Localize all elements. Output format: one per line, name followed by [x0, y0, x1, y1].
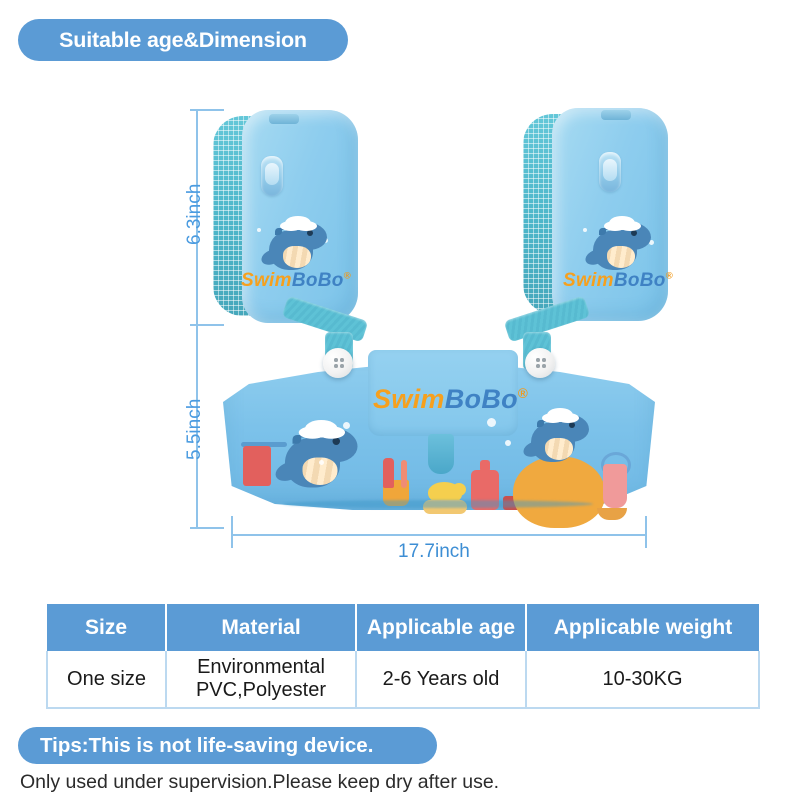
egg-shell-icon [513, 456, 605, 528]
bubble-dot [487, 418, 496, 427]
snap-button-right [525, 348, 555, 378]
toothpaste-tube-icon [383, 458, 394, 488]
brand-logo-left: SwimBoBo® [241, 270, 351, 292]
red-towel-icon [243, 446, 271, 486]
logo-text-swim: Swim [241, 270, 292, 291]
basin-icon [597, 508, 627, 520]
bubble-dot [319, 460, 324, 465]
zipper-pull-right-icon [601, 110, 631, 120]
cell-applicable-weight: 10-30KG [526, 651, 759, 708]
vest-bottom-rim [283, 500, 593, 508]
brand-logo-vest: SwimBoBo® [373, 384, 528, 415]
dim-label-height-lower: 5.5inch [184, 399, 206, 460]
bubble-dot [343, 422, 350, 429]
product-dimension-stage: 6.3inch 5.5inch 17.7inch [0, 70, 800, 575]
cell-material-line1: Environmental [197, 656, 325, 678]
logo-registered-mark: ® [518, 386, 528, 401]
table-header-applicable-age: Applicable age [356, 604, 526, 651]
snap-button-left [323, 348, 353, 378]
page-title: Suitable age&Dimension [59, 28, 307, 53]
cell-material: Environmental PVC,Polyester [166, 651, 356, 708]
table-header-size: Size [47, 604, 166, 651]
cell-material-line2: PVC,Polyester [196, 679, 326, 701]
table-header-material: Material [166, 604, 356, 651]
swim-vest-product-image: SwimBoBo® [205, 100, 675, 550]
logo-text-bobo: BoBo [445, 384, 518, 414]
bubble-dot [505, 440, 511, 446]
vest-main-body: SwimBoBo® [223, 360, 655, 510]
logo-registered-mark: ® [344, 271, 351, 282]
specification-table: Size Material Applicable age Applicable … [46, 604, 760, 709]
dinosaur-mascot-left-icon [261, 216, 333, 274]
cell-applicable-age: 2-6 Years old [356, 651, 526, 708]
tips-badge-label: Tips:This is not life-saving device. [18, 734, 373, 758]
logo-text-swim: Swim [563, 270, 614, 291]
logo-text-bobo: BoBo [292, 270, 344, 291]
dinosaur-illustration-left [275, 420, 365, 493]
center-buckle-icon [428, 434, 454, 474]
inflation-valve-left-icon [261, 156, 283, 196]
logo-registered-mark: ® [666, 271, 673, 282]
zipper-pull-left-icon [269, 114, 299, 124]
product-infographic: Suitable age&Dimension 6.3inch 5.5inch 1… [0, 0, 800, 800]
left-arm-float: SwimBoBo® [213, 110, 358, 325]
dinosaur-mascot-right-icon [585, 216, 657, 274]
cell-size: One size [47, 651, 166, 708]
inflation-valve-right-icon [599, 152, 621, 192]
tips-badge: Tips:This is not life-saving device. [18, 727, 437, 764]
logo-text-bobo: BoBo [614, 270, 666, 291]
dinosaur-illustration-right [523, 408, 595, 466]
tips-note: Only used under supervision.Please keep … [20, 771, 499, 794]
right-arm-float: SwimBoBo® [523, 108, 668, 323]
pink-towel-icon [603, 464, 627, 508]
section-header-badge: Suitable age&Dimension [18, 19, 348, 61]
logo-text-swim: Swim [373, 384, 445, 414]
table-row: One size Environmental PVC,Polyester 2-6… [47, 651, 759, 708]
table-header-row: Size Material Applicable age Applicable … [47, 604, 759, 651]
toothbrush-icon [401, 460, 407, 488]
brand-logo-right: SwimBoBo® [563, 270, 673, 292]
table-header-applicable-weight: Applicable weight [526, 604, 759, 651]
dim-label-height-upper: 6.3inch [184, 184, 206, 245]
